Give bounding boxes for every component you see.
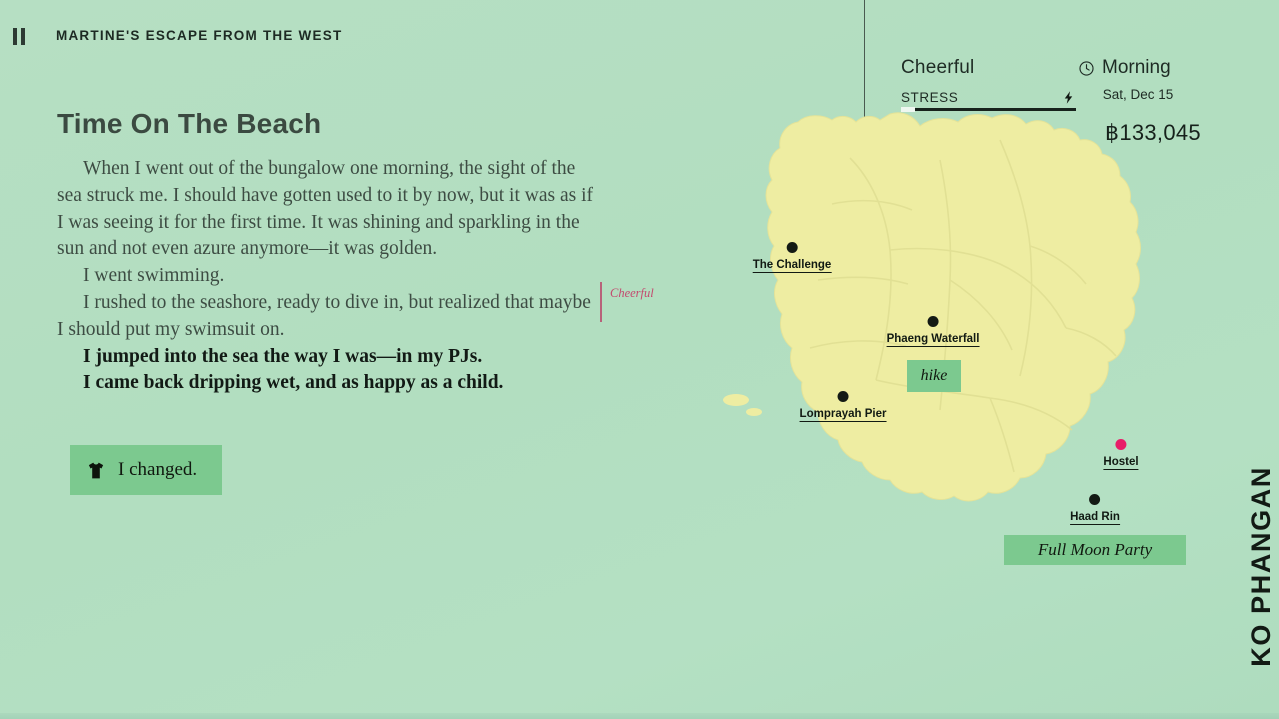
map-poi-haad-rin[interactable]: Haad Rin xyxy=(1070,494,1120,525)
map[interactable]: The Challenge Phaeng Waterfall Lomprayah… xyxy=(700,100,1220,580)
paragraph-emphasis: I came back dripping wet, and as happy a… xyxy=(57,370,597,397)
poi-label: The Challenge xyxy=(753,258,832,273)
island-landmass xyxy=(766,113,1141,501)
pause-button[interactable] xyxy=(11,27,27,45)
mood-annotation: Cheerful xyxy=(600,282,654,322)
map-tag-full-moon-party[interactable]: Full Moon Party xyxy=(1004,535,1186,565)
map-poi-the-challenge[interactable]: The Challenge xyxy=(753,242,832,273)
poi-marker-current xyxy=(1116,439,1127,450)
tshirt-icon xyxy=(86,461,106,480)
poi-marker xyxy=(837,391,848,402)
time-of-day: Morning xyxy=(1102,57,1171,79)
choice-button[interactable]: I changed. xyxy=(70,445,222,495)
poi-marker xyxy=(1090,494,1101,505)
clock-icon xyxy=(1078,60,1095,77)
poi-label: Haad Rin xyxy=(1070,510,1120,525)
story-title: MARTINE'S ESCAPE FROM THE WEST xyxy=(56,28,342,43)
island-name-label: KO PHANGAN xyxy=(1246,466,1277,667)
map-poi-phaeng-waterfall[interactable]: Phaeng Waterfall xyxy=(887,316,980,347)
story-text: When I went out of the bungalow one morn… xyxy=(57,156,597,397)
map-poi-lomprayah-pier[interactable]: Lomprayah Pier xyxy=(800,391,887,422)
page-title: Time On The Beach xyxy=(57,108,321,140)
poi-label: Lomprayah Pier xyxy=(800,407,887,422)
bottom-band xyxy=(0,713,1279,719)
pause-icon-bar-left xyxy=(13,28,17,45)
paragraph-emphasis: I jumped into the sea the way I was—in m… xyxy=(57,344,597,371)
choice-button-label: I changed. xyxy=(118,459,197,481)
poi-label: Phaeng Waterfall xyxy=(887,332,980,347)
pause-icon-bar-right xyxy=(21,28,25,45)
poi-marker xyxy=(928,316,939,327)
map-poi-hostel[interactable]: Hostel xyxy=(1103,439,1138,470)
mood-annotation-label: Cheerful xyxy=(610,282,654,304)
paragraph: When I went out of the bungalow one morn… xyxy=(57,156,597,263)
paragraph: I rushed to the seashore, ready to dive … xyxy=(57,290,597,344)
offshore-islets xyxy=(723,394,762,416)
paragraph: I went swimming. xyxy=(57,263,597,290)
poi-label: Hostel xyxy=(1103,455,1138,470)
poi-marker xyxy=(786,242,797,253)
map-tag-hike[interactable]: hike xyxy=(907,360,961,392)
